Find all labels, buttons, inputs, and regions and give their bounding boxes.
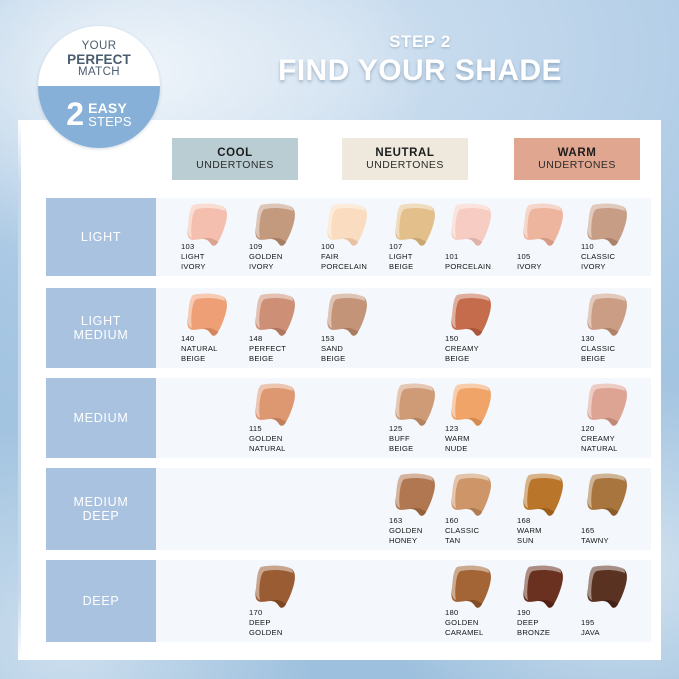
row-label-deep: DEEP — [46, 560, 156, 642]
swatch-shape-icon — [444, 382, 504, 430]
shade-cell-105[interactable]: 105 IVORY — [516, 198, 580, 276]
shade-caption: 153 SAND BEIGE — [321, 334, 345, 364]
shade-cell-103[interactable]: 103 LIGHT IVORY — [180, 198, 244, 276]
undertone-header-warm: WARMUNDERTONES — [514, 138, 640, 180]
swatch-shape-icon — [388, 472, 448, 520]
foundation-smear-swatch — [180, 292, 240, 340]
shade-cell-100[interactable]: 100 FAIR PORCELAIN — [320, 198, 384, 276]
swatch-shape-icon — [516, 564, 576, 612]
shade-cell-101[interactable]: 101 PORCELAIN — [444, 198, 508, 276]
foundation-smear-swatch — [444, 472, 504, 520]
shade-cell-153[interactable]: 153 SAND BEIGE — [320, 288, 384, 368]
shade-caption: 107 LIGHT BEIGE — [389, 242, 413, 272]
swatch-shape-icon — [248, 564, 308, 612]
foundation-smear-swatch — [516, 202, 576, 250]
row-label-medium: MEDIUM — [46, 378, 156, 458]
shade-cell-195[interactable]: 195 JAVA — [580, 560, 644, 642]
shade-caption: 148 PERFECT BEIGE — [249, 334, 286, 364]
foundation-smear-swatch — [444, 564, 504, 612]
undertone-sublabel: UNDERTONES — [538, 160, 616, 171]
undertone-name: COOL — [217, 147, 253, 159]
shade-caption: 105 IVORY — [517, 252, 542, 272]
swatch-shape-icon — [516, 202, 576, 250]
badge-easy-text: EASY — [88, 101, 132, 115]
swatch-shape-icon — [444, 472, 504, 520]
undertone-header-neutral: NEUTRALUNDERTONES — [342, 138, 468, 180]
foundation-smear-swatch — [248, 382, 308, 430]
shade-cell-180[interactable]: 180 GOLDEN CARAMEL — [444, 560, 508, 642]
shade-cell-109[interactable]: 109 GOLDEN IVORY — [248, 198, 312, 276]
foundation-smear-swatch — [248, 292, 308, 340]
shade-cell-170[interactable]: 170 DEEP GOLDEN — [248, 560, 312, 642]
shade-cell-130[interactable]: 130 CLASSIC BEIGE — [580, 288, 644, 368]
swatch-shape-icon — [388, 382, 448, 430]
shade-caption: 165 TAWNY — [581, 526, 609, 546]
shade-row: LIGHT MEDIUM140 NATURAL BEIGE148 PERFECT… — [18, 288, 661, 368]
shade-caption: 150 CREAMY BEIGE — [445, 334, 479, 364]
shade-caption: 125 BUFF BEIGE — [389, 424, 413, 454]
shade-caption: 163 GOLDEN HONEY — [389, 516, 423, 546]
shade-caption: 101 PORCELAIN — [445, 252, 491, 272]
shade-caption: 130 CLASSIC BEIGE — [581, 334, 615, 364]
shade-caption: 190 DEEP BRONZE — [517, 608, 550, 638]
shade-cell-190[interactable]: 190 DEEP BRONZE — [516, 560, 580, 642]
step-label: STEP 2 — [200, 32, 640, 52]
swatch-shape-icon — [444, 292, 504, 340]
swatch-shape-icon — [580, 292, 640, 340]
foundation-smear-swatch — [580, 472, 640, 520]
swatch-shape-icon — [180, 292, 240, 340]
shade-caption: 109 GOLDEN IVORY — [249, 242, 283, 272]
foundation-smear-swatch — [320, 292, 380, 340]
shade-row: LIGHT103 LIGHT IVORY109 GOLDEN IVORY100 … — [18, 198, 661, 276]
foundation-smear-swatch — [248, 564, 308, 612]
badge-top-half: YOUR PERFECT MATCH — [38, 26, 160, 86]
row-label-medium-deep: MEDIUM DEEP — [46, 468, 156, 550]
swatch-shape-icon — [580, 472, 640, 520]
shade-row: MEDIUM115 GOLDEN NATURAL125 BUFF BEIGE12… — [18, 378, 661, 458]
shade-cell-125[interactable]: 125 BUFF BEIGE — [388, 378, 452, 458]
shade-row: MEDIUM DEEP163 GOLDEN HONEY160 CLASSIC T… — [18, 468, 661, 550]
undertone-header-cool: COOLUNDERTONES — [172, 138, 298, 180]
foundation-smear-swatch — [580, 292, 640, 340]
row-cells: 103 LIGHT IVORY109 GOLDEN IVORY100 FAIR … — [156, 198, 651, 276]
shade-caption: 115 GOLDEN NATURAL — [249, 424, 286, 454]
foundation-smear-swatch — [444, 202, 504, 250]
shade-caption: 140 NATURAL BEIGE — [181, 334, 218, 364]
shade-cell-120[interactable]: 120 CREAMY NATURAL — [580, 378, 644, 458]
row-label-light-medium: LIGHT MEDIUM — [46, 288, 156, 368]
shade-cell-140[interactable]: 140 NATURAL BEIGE — [180, 288, 244, 368]
undertone-sublabel: UNDERTONES — [196, 160, 274, 171]
shade-cell-115[interactable]: 115 GOLDEN NATURAL — [248, 378, 312, 458]
row-cells: 163 GOLDEN HONEY160 CLASSIC TAN168 WARM … — [156, 468, 651, 550]
row-cells: 115 GOLDEN NATURAL125 BUFF BEIGE123 WARM… — [156, 378, 651, 458]
row-label-light: LIGHT — [46, 198, 156, 276]
shade-cell-110[interactable]: 110 CLASSIC IVORY — [580, 198, 644, 276]
shade-caption: 170 DEEP GOLDEN — [249, 608, 283, 638]
swatch-shape-icon — [320, 292, 380, 340]
shade-cell-160[interactable]: 160 CLASSIC TAN — [444, 468, 508, 550]
shade-caption: 110 CLASSIC IVORY — [581, 242, 615, 272]
swatch-shape-icon — [248, 292, 308, 340]
shade-caption: 180 GOLDEN CARAMEL — [445, 608, 483, 638]
shade-cell-168[interactable]: 168 WARM SUN — [516, 468, 580, 550]
undertone-name: NEUTRAL — [375, 147, 434, 159]
swatch-shape-icon — [516, 472, 576, 520]
undertone-sublabel: UNDERTONES — [366, 160, 444, 171]
shade-caption: 103 LIGHT IVORY — [181, 242, 206, 272]
shade-chart-card: COOLUNDERTONESNEUTRALUNDERTONESWARMUNDER… — [18, 120, 661, 660]
foundation-smear-swatch — [516, 472, 576, 520]
swatch-shape-icon — [444, 202, 504, 250]
perfect-match-badge: YOUR PERFECT MATCH 2 EASY STEPS — [38, 26, 160, 148]
shade-caption: 195 JAVA — [581, 618, 600, 638]
undertone-name: WARM — [558, 147, 597, 159]
shade-cell-150[interactable]: 150 CREAMY BEIGE — [444, 288, 508, 368]
shade-cell-165[interactable]: 165 TAWNY — [580, 468, 644, 550]
shade-caption: 120 CREAMY NATURAL — [581, 424, 618, 454]
swatch-shape-icon — [248, 382, 308, 430]
row-cells: 170 DEEP GOLDEN180 GOLDEN CARAMEL190 DEE… — [156, 560, 651, 642]
foundation-smear-swatch — [580, 382, 640, 430]
page-heading: STEP 2 FIND YOUR SHADE — [200, 32, 640, 88]
shade-caption: 168 WARM SUN — [517, 516, 542, 546]
swatch-shape-icon — [444, 564, 504, 612]
page-title: FIND YOUR SHADE — [200, 54, 640, 88]
shade-caption: 160 CLASSIC TAN — [445, 516, 479, 546]
shade-row: DEEP170 DEEP GOLDEN180 GOLDEN CARAMEL190… — [18, 560, 661, 642]
badge-perfect-text: PERFECT — [67, 53, 131, 67]
shade-caption: 100 FAIR PORCELAIN — [321, 242, 367, 272]
shade-cell-163[interactable]: 163 GOLDEN HONEY — [388, 468, 452, 550]
badge-match-text: MATCH — [78, 67, 120, 79]
foundation-smear-swatch — [444, 382, 504, 430]
row-cells: 140 NATURAL BEIGE148 PERFECT BEIGE153 SA… — [156, 288, 651, 368]
foundation-smear-swatch — [388, 472, 448, 520]
foundation-smear-swatch — [580, 564, 640, 612]
swatch-shape-icon — [580, 382, 640, 430]
badge-step-count: 2 — [66, 98, 84, 130]
swatch-shape-icon — [580, 564, 640, 612]
foundation-smear-swatch — [516, 564, 576, 612]
badge-steps-text: STEPS — [88, 115, 132, 128]
shade-cell-107[interactable]: 107 LIGHT BEIGE — [388, 198, 452, 276]
shade-cell-148[interactable]: 148 PERFECT BEIGE — [248, 288, 312, 368]
shade-cell-123[interactable]: 123 WARM NUDE — [444, 378, 508, 458]
badge-steps-stack: EASY STEPS — [88, 101, 132, 128]
shade-caption: 123 WARM NUDE — [445, 424, 470, 454]
foundation-smear-swatch — [388, 382, 448, 430]
foundation-smear-swatch — [444, 292, 504, 340]
